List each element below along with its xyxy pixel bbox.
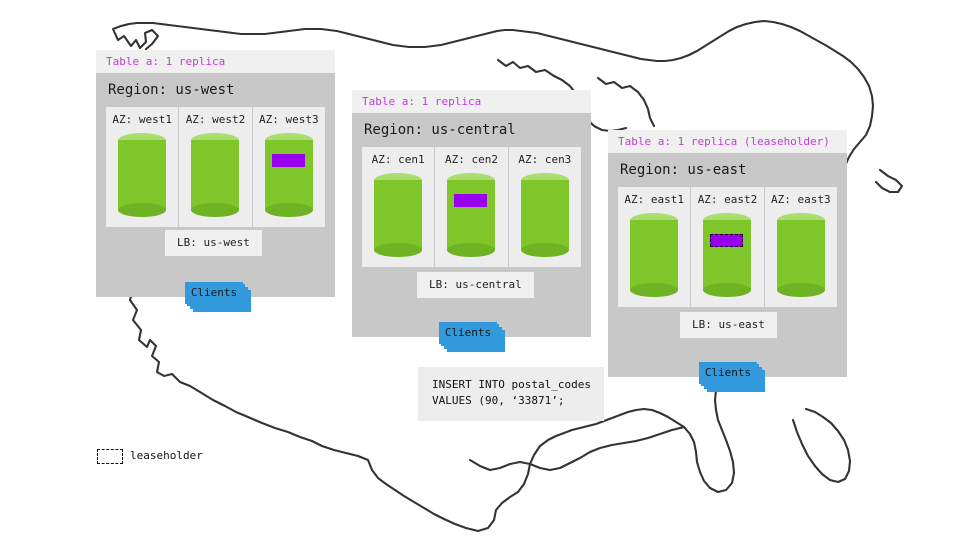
cylinder-body-east3: [777, 220, 825, 290]
clients-stack-us-west[interactable]: Clients: [185, 282, 251, 312]
clients-label-us-east[interactable]: Clients: [699, 362, 757, 384]
load-balancer-us-central[interactable]: LB: us-central: [417, 272, 534, 298]
az-label-east2: AZ: east2: [691, 194, 763, 206]
az-card-cen1[interactable]: AZ: cen1: [362, 147, 434, 266]
region-body-us-central: Region: us-central AZ: cen1 AZ: cen2: [352, 113, 591, 337]
cylinder-body-east1: [630, 220, 678, 290]
az-label-cen3: AZ: cen3: [509, 154, 581, 166]
region-header-us-west: Table a: 1 replica: [96, 50, 335, 73]
cylinder-body-east2: [703, 220, 751, 290]
replica-block-west3: [272, 154, 305, 167]
load-balancer-us-west[interactable]: LB: us-west: [165, 230, 262, 256]
az-row-us-west: AZ: west1 AZ: west2: [106, 107, 325, 226]
cylinder-body-west1: [118, 140, 166, 210]
cylinder-bottom-east2: [703, 283, 751, 297]
cylinder-body-cen3: [521, 180, 569, 250]
az-label-west2: AZ: west2: [179, 114, 251, 126]
leaseholder-swatch-icon: [97, 449, 123, 464]
az-card-east1[interactable]: AZ: east1: [618, 187, 690, 306]
az-card-east3[interactable]: AZ: east3: [764, 187, 837, 306]
cylinder-body-cen2: [447, 180, 495, 250]
region-panel-us-west: Table a: 1 replica Region: us-west AZ: w…: [96, 50, 335, 297]
sql-statement-box: INSERT INTO postal_codes VALUES (90, ‘33…: [418, 367, 604, 421]
region-title-us-east: Region: us-east: [618, 153, 837, 187]
node-cylinder-west3[interactable]: [265, 133, 313, 217]
az-label-east3: AZ: east3: [765, 194, 837, 206]
region-panel-us-central: Table a: 1 replica Region: us-central AZ…: [352, 90, 591, 337]
cylinder-bottom-cen3: [521, 243, 569, 257]
region-title-us-west: Region: us-west: [106, 73, 325, 107]
cylinder-bottom-cen1: [374, 243, 422, 257]
load-balancer-us-east[interactable]: LB: us-east: [680, 312, 777, 338]
node-cylinder-cen1[interactable]: [374, 173, 422, 257]
clients-label-us-west[interactable]: Clients: [185, 282, 243, 304]
region-body-us-east: Region: us-east AZ: east1 AZ: east2: [608, 153, 847, 377]
az-row-us-east: AZ: east1 AZ: east2: [618, 187, 837, 306]
az-card-east2[interactable]: AZ: east2: [690, 187, 763, 306]
az-label-east1: AZ: east1: [618, 194, 690, 206]
az-card-cen3[interactable]: AZ: cen3: [508, 147, 581, 266]
az-label-cen1: AZ: cen1: [362, 154, 434, 166]
az-card-west1[interactable]: AZ: west1: [106, 107, 178, 226]
az-label-cen2: AZ: cen2: [435, 154, 507, 166]
az-card-west3[interactable]: AZ: west3: [252, 107, 325, 226]
node-cylinder-east2[interactable]: [703, 213, 751, 297]
node-cylinder-east3[interactable]: [777, 213, 825, 297]
az-card-cen2[interactable]: AZ: cen2: [434, 147, 507, 266]
node-cylinder-cen3[interactable]: [521, 173, 569, 257]
cylinder-bottom-east3: [777, 283, 825, 297]
cylinder-bottom-west2: [191, 203, 239, 217]
cylinder-bottom-west1: [118, 203, 166, 217]
legend-label: leaseholder: [130, 450, 203, 462]
node-cylinder-cen2[interactable]: [447, 173, 495, 257]
region-header-us-central: Table a: 1 replica: [352, 90, 591, 113]
region-title-us-central: Region: us-central: [362, 113, 581, 147]
region-body-us-west: Region: us-west AZ: west1 AZ: west2: [96, 73, 335, 297]
az-label-west1: AZ: west1: [106, 114, 178, 126]
cylinder-bottom-west3: [265, 203, 313, 217]
clients-stack-us-east[interactable]: Clients: [699, 362, 765, 392]
clients-stack-us-central[interactable]: Clients: [439, 322, 505, 352]
region-header-us-east: Table a: 1 replica (leaseholder): [608, 130, 847, 153]
diagram-canvas: 2 Table a: 1 replica Region: us-west AZ:…: [0, 0, 960, 540]
clients-label-us-central[interactable]: Clients: [439, 322, 497, 344]
replica-block-cen2: [454, 194, 487, 207]
cylinder-bottom-cen2: [447, 243, 495, 257]
node-cylinder-west1[interactable]: [118, 133, 166, 217]
leaseholder-block-east2: [710, 234, 743, 247]
cylinder-body-west3: [265, 140, 313, 210]
az-card-west2[interactable]: AZ: west2: [178, 107, 251, 226]
cylinder-body-west2: [191, 140, 239, 210]
cylinder-bottom-east1: [630, 283, 678, 297]
node-cylinder-east1[interactable]: [630, 213, 678, 297]
node-cylinder-west2[interactable]: [191, 133, 239, 217]
az-row-us-central: AZ: cen1 AZ: cen2: [362, 147, 581, 266]
az-label-west3: AZ: west3: [253, 114, 325, 126]
legend: leaseholder: [97, 449, 203, 464]
region-panel-us-east: Table a: 1 replica (leaseholder) Region:…: [608, 130, 847, 377]
cylinder-body-cen1: [374, 180, 422, 250]
